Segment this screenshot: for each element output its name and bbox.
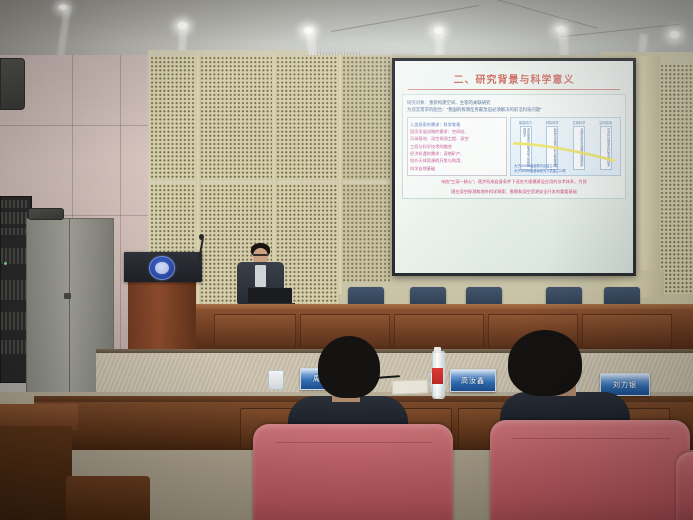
diagram-columns: 深空探测中的能源动力系统关键技术 新型空间结构材料与制备技术 长期在轨生命保障与…	[513, 126, 618, 170]
desk-panel	[394, 314, 484, 348]
ceiling-spotlight	[58, 4, 68, 11]
acoustic-panel	[200, 56, 272, 180]
slide-lead-line-2: 为适宜需求的配合："我国的探测任务最急迫必须解决的前沿科技问题"	[407, 106, 621, 113]
auditorium-seat-right	[490, 420, 690, 520]
slide-left-line: 国家发展战略的需求：空间站、	[410, 128, 504, 135]
attendee-head	[508, 330, 582, 396]
cabinet-handle-icon[interactable]	[64, 293, 71, 299]
laptop-screen[interactable]	[248, 288, 292, 304]
acoustic-panel	[276, 56, 338, 180]
diagram-column: 长期在轨生命保障与健康防护	[573, 126, 585, 170]
desk-panel	[582, 314, 672, 348]
rack-status-led	[4, 262, 7, 265]
presenter-shirt	[255, 265, 266, 287]
rack-unit	[1, 280, 29, 300]
slide-left-line: 科学自然基础	[410, 165, 504, 172]
nameplate-right-text: 刘力银	[613, 380, 637, 390]
lecture-hall-photo: 二、研究背景与科学意义 研究对象：重新构建空间、主客的关联研究 为适宜需求的配合…	[0, 0, 693, 520]
diagram-headers: 能源动力 材料科学 生命科学 空间探测	[513, 120, 618, 125]
slide-left-line: 地外天体资源的开发与利用、	[410, 157, 504, 164]
slide-left-line: 经济机遇的需求：深地矿产、	[410, 150, 504, 157]
slide-body: 研究对象：重新构建空间、主客的关联研究 为适宜需求的配合："我国的探测任务最急迫…	[402, 94, 626, 199]
ceiling-spotlight	[302, 26, 315, 36]
rack-unit	[1, 200, 29, 208]
nameplate-center-text: 高汝鑫	[461, 376, 485, 386]
slide-lead-line-1: 研究对象：重新构建空间、主客的关联研究	[407, 99, 621, 106]
slide-title-rule	[408, 89, 620, 90]
slide-left-text-block: 人类探索的需求：科学发现 国家发展战略的需求：空间站、 月球基地、深空探测工程、…	[407, 117, 507, 176]
bottle-label	[432, 368, 443, 384]
diagram-column: 空间环境探测及科学载荷技术	[600, 126, 612, 170]
presentation-slide: 二、研究背景与科学意义 研究对象：重新构建空间、主客的关联研究 为适宜需求的配合…	[395, 61, 633, 273]
diagram-header: 能源动力	[519, 120, 532, 125]
slide-left-line: 工程与科学技术的融合	[410, 143, 504, 150]
rack-unit	[1, 228, 29, 235]
nameplate-center: 高汝鑫	[450, 369, 496, 392]
cabinet-top-device	[28, 208, 64, 220]
bottle-cap	[434, 347, 441, 352]
rack-unit	[1, 312, 29, 330]
ceiling-spotlight	[668, 30, 681, 40]
diagram-column: 深空探测中的能源动力系统关键技术	[520, 126, 532, 170]
wall-speaker	[0, 58, 25, 110]
slide-left-line: 月球基地、深空探测工程、深空	[410, 135, 504, 142]
slide-columns: 人类探索的需求：科学发现 国家发展战略的需求：空间站、 月球基地、深空探测工程、…	[407, 117, 621, 176]
paper-cup	[268, 370, 284, 390]
rack-unit	[1, 340, 29, 354]
auditorium-seat-far-right	[676, 452, 693, 520]
presenter-glasses	[253, 254, 268, 256]
side-seat	[66, 476, 150, 520]
wall-trim	[338, 54, 343, 294]
acoustic-panel	[276, 184, 338, 304]
attendee-head	[318, 336, 380, 398]
document-sheet	[392, 379, 428, 394]
diagram-notes: 大于1000m级载荷平台建立3项 大于1000m级基础研究人员建立10项	[514, 164, 566, 174]
cabinet-door-seam	[69, 219, 70, 395]
projection-screen-frame: 二、研究背景与科学意义 研究对象：重新构建空间、主客的关联研究 为适宜需求的配合…	[392, 58, 636, 276]
university-crest-icon	[149, 256, 175, 280]
desk-panel	[214, 314, 296, 348]
crest-inner	[155, 262, 168, 274]
slide-footer-line-1: 响应"三深一核心"，逐步形成自身条件下适合大规模建设应用的技术体系，为我	[407, 179, 621, 186]
slide-title: 二、研究背景与科学意义	[402, 71, 626, 86]
diagram-header: 空间探测	[599, 120, 612, 125]
auditorium-seat-left	[253, 424, 453, 520]
acoustic-panel	[150, 56, 196, 180]
microphone-head-icon	[199, 234, 204, 240]
side-bench-face	[0, 426, 72, 520]
rack-unit	[1, 212, 29, 224]
acoustic-panel	[342, 56, 390, 180]
ceiling-spotlight	[176, 21, 189, 31]
diagram-header: 材料科学	[546, 120, 559, 125]
slide-diagram: 能源动力 材料科学 生命科学 空间探测 深空探测中的能源动力系统关键技术 新型空…	[510, 117, 621, 176]
diagram-header: 生命科学	[573, 120, 586, 125]
acoustic-panel	[342, 184, 390, 282]
diagram-note: 大于1000m级基础研究人员建立10项	[514, 169, 566, 174]
diagram-column: 新型空间结构材料与制备技术	[546, 126, 558, 170]
slide-footer-line-2: 国在深空探测和地外科学探索、勘察和深空资源安全开发的重要基础	[407, 189, 621, 196]
ceiling-spotlight	[432, 26, 445, 36]
projection-screen: 二、研究背景与科学意义 研究对象：重新构建空间、主客的关联研究 为适宜需求的配合…	[395, 61, 633, 273]
slide-left-line: 人类探索的需求：科学发现	[410, 121, 504, 128]
ceiling-spotlight	[554, 25, 567, 35]
acoustic-panel	[660, 64, 693, 294]
